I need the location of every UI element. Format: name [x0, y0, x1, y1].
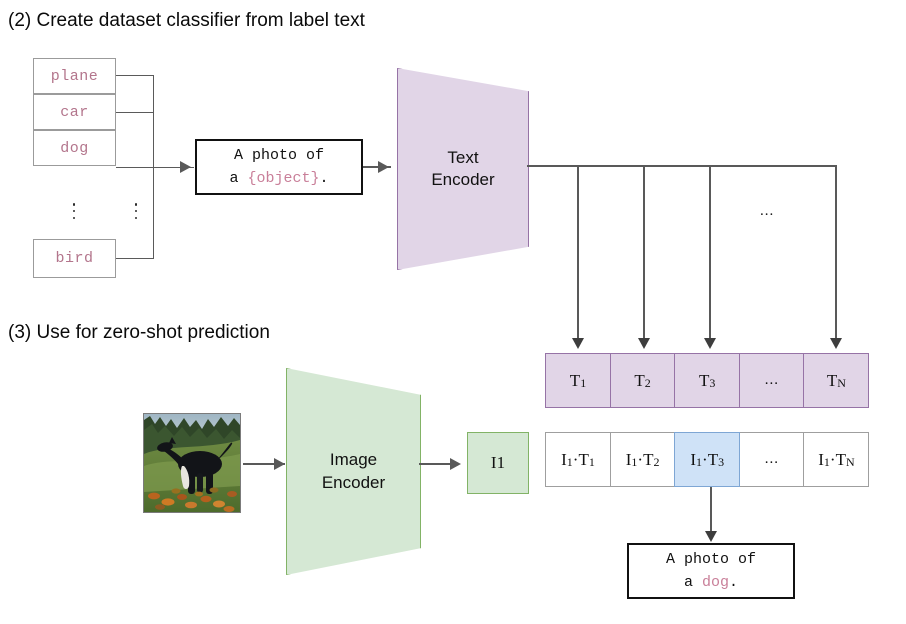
connector-plane: [116, 75, 154, 76]
similarity-right-n: T: [836, 450, 846, 470]
image-embedding-sub: 1: [497, 453, 506, 473]
connector-car: [116, 112, 154, 113]
drop-line-tn: [835, 165, 837, 340]
text-encoder-output-bus: [527, 165, 835, 167]
text-embedding-cell-n: TN: [803, 353, 869, 408]
similarity-row: I1·T1 I1·T2 I1·T3 ... I1·TN: [545, 432, 869, 487]
label-box-plane: plane: [33, 58, 116, 94]
similarity-right-2: T: [643, 450, 653, 470]
label-bus-ellipsis-icon: [134, 203, 138, 219]
text-embedding-symbol-n: T: [827, 371, 837, 391]
text-embedding-sub-2: 2: [645, 376, 651, 391]
similarity-left-sub-3: 1: [696, 455, 702, 470]
dog-photo-graphic: [144, 414, 240, 512]
similarity-left-sub-1: 1: [567, 455, 573, 470]
prompt-variable: {object}: [247, 170, 319, 187]
image-encoder-label-2: Encoder: [322, 472, 385, 494]
similarity-cell-n: I1·TN: [803, 432, 869, 487]
label-box-bird: bird: [33, 239, 116, 278]
arrow-down-t3: [704, 338, 716, 349]
text-embedding-symbol-3: T: [699, 371, 709, 391]
similarity-cell-ellipsis: ...: [739, 432, 805, 487]
text-embedding-row: T1 T2 T3 ... TN: [545, 353, 869, 408]
prediction-line-1: A photo of: [666, 548, 756, 571]
similarity-right-3: T: [708, 450, 718, 470]
arrow-image-encoder-to-embedding: [450, 458, 461, 470]
connector-bird: [116, 258, 154, 259]
similarity-right-1: T: [578, 450, 588, 470]
similarity-cell-2: I1·T2: [610, 432, 676, 487]
label-box-car: car: [33, 94, 116, 130]
text-embedding-cell-2: T2: [610, 353, 676, 408]
drop-line-t3: [709, 165, 711, 340]
text-encoder-label-2: Encoder: [431, 169, 494, 191]
arrow-prompt-to-text-encoder: [378, 161, 389, 173]
drop-line-t2: [643, 165, 645, 340]
prediction-line-2: a dog.: [684, 571, 738, 594]
similarity-ellipsis: ...: [765, 451, 779, 468]
text-embedding-sub-3: 3: [709, 376, 715, 391]
arrow-down-prediction: [705, 531, 717, 542]
arrow-labels-to-prompt: [180, 161, 191, 173]
text-embedding-sub-n: N: [837, 376, 846, 391]
bus-segment-lower: [153, 112, 154, 259]
diagram-canvas: (2) Create dataset classifier from label…: [0, 0, 906, 624]
bus-ellipsis: ...: [760, 203, 774, 220]
prediction-box: A photo of a dog.: [627, 543, 795, 599]
prompt-line-2-suffix: .: [320, 170, 329, 187]
step-2-title: (2) Create dataset classifier from label…: [8, 10, 365, 32]
text-encoder-label-1: Text: [447, 147, 478, 169]
arrow-down-t1: [572, 338, 584, 349]
drop-line-t1: [577, 165, 579, 340]
similarity-cell-1: I1·T1: [545, 432, 611, 487]
similarity-right-sub-n: N: [846, 455, 855, 470]
label-text-dog: dog: [60, 140, 89, 157]
prompt-line-1: A photo of: [234, 144, 324, 167]
prediction-variable: dog: [702, 574, 729, 591]
label-box-dog: dog: [33, 130, 116, 166]
prompt-template-box: A photo of a {object}.: [195, 139, 363, 195]
image-embedding-box: I1: [467, 432, 529, 494]
label-text-plane: plane: [51, 68, 99, 85]
text-embedding-ellipsis: ...: [765, 372, 779, 389]
text-embedding-sub-1: 1: [580, 376, 586, 391]
prediction-line-2-suffix: .: [729, 574, 738, 591]
similarity-left-sub-n: 1: [824, 455, 830, 470]
label-text-bird: bird: [55, 250, 93, 267]
similarity-right-sub-1: 1: [589, 455, 595, 470]
label-list-ellipsis-icon: [72, 203, 76, 219]
prediction-line-2-prefix: a: [684, 574, 702, 591]
text-embedding-cell-1: T1: [545, 353, 611, 408]
drop-line-prediction: [710, 487, 712, 533]
text-embedding-symbol-2: T: [634, 371, 644, 391]
text-embedding-cell-ellipsis: ...: [739, 353, 805, 408]
prompt-line-2: a {object}.: [229, 167, 328, 190]
similarity-cell-3-selected[interactable]: I1·T3: [674, 432, 740, 487]
arrow-down-t2: [638, 338, 650, 349]
label-text-car: car: [60, 104, 89, 121]
image-encoder: Image Encoder: [286, 368, 421, 575]
step-3-title: (3) Use for zero-shot prediction: [8, 322, 270, 344]
text-embedding-cell-3: T3: [674, 353, 740, 408]
similarity-left-sub-2: 1: [631, 455, 637, 470]
input-photo: [143, 413, 241, 513]
similarity-right-sub-3: 3: [718, 455, 724, 470]
arrow-photo-to-image-encoder: [274, 458, 285, 470]
arrow-down-tn: [830, 338, 842, 349]
similarity-right-sub-2: 2: [653, 455, 659, 470]
text-encoder: Text Encoder: [397, 68, 529, 270]
text-embedding-symbol-1: T: [570, 371, 580, 391]
bus-segment-upper: [153, 75, 154, 113]
image-encoder-label-1: Image: [330, 449, 377, 471]
prompt-line-2-prefix: a: [229, 170, 247, 187]
